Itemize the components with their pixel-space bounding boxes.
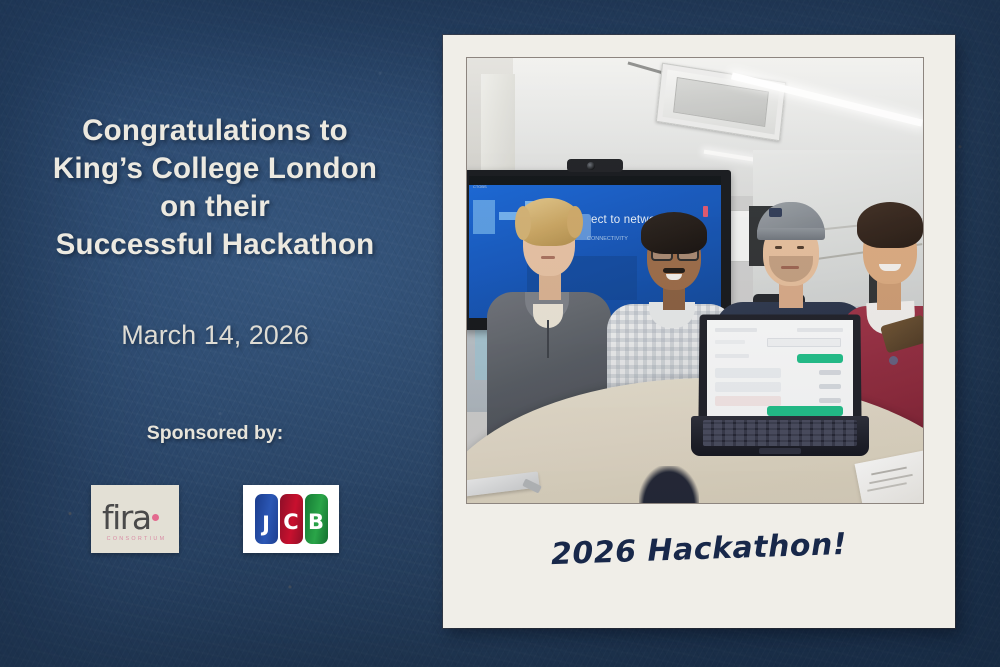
jcb-logo: J C B xyxy=(243,485,339,553)
student-2-moustache xyxy=(663,268,685,273)
student-1-hair-side-left xyxy=(515,206,531,240)
laptop-keyboard xyxy=(703,420,857,446)
wall-column xyxy=(481,74,515,178)
app-amount-1 xyxy=(819,370,841,375)
photo-caption: 2026 Hackathon! xyxy=(443,523,956,576)
jcb-blocks: J C B xyxy=(255,494,328,544)
jcb-letter-j: J xyxy=(262,514,270,535)
webcam-icon xyxy=(567,159,623,172)
jcb-block-c: C xyxy=(280,494,303,544)
headline-line-1: Congratulations to xyxy=(0,112,430,150)
app-list-item-1 xyxy=(715,368,781,378)
sponsored-by-label: Sponsored by: xyxy=(0,422,430,445)
jcb-letter-c: C xyxy=(283,512,298,533)
student-3-mouth xyxy=(781,266,799,269)
fira-wordmark-group: fira xyxy=(98,499,172,539)
student-4-mouth xyxy=(879,264,901,271)
polaroid-frame: ect to networ CONNECTIVITY CTOBS xyxy=(443,35,955,628)
app-field-4 xyxy=(715,354,749,358)
student-4-chest-logo-icon xyxy=(889,356,898,365)
fira-accent-dot-icon xyxy=(152,514,159,521)
app-amount-2 xyxy=(819,384,841,389)
student-1-mouth xyxy=(541,256,555,259)
laptop-trackpad xyxy=(759,448,801,454)
message-column: Congratulations to King’s College London… xyxy=(0,0,430,667)
webcam-lens-icon xyxy=(587,162,595,170)
jcb-letter-b: B xyxy=(308,512,324,533)
jcb-block-b: B xyxy=(305,494,328,544)
fira-wordmark: fira xyxy=(102,498,151,538)
headline: Congratulations to King’s College London… xyxy=(0,112,430,264)
student-3-eye-left xyxy=(775,246,782,249)
headline-line-2: King’s College London xyxy=(0,150,430,188)
app-field-2 xyxy=(797,328,843,332)
event-date: March 14, 2026 xyxy=(0,318,430,352)
app-list-item-2 xyxy=(715,382,781,392)
student-1-hair-side-right xyxy=(567,206,583,238)
fira-logo: fira CONSORTIUM xyxy=(91,485,179,553)
app-secondary-button xyxy=(767,406,843,416)
table-base-shadow xyxy=(639,466,699,503)
app-field-3 xyxy=(715,340,745,344)
student-2-hair xyxy=(641,212,707,254)
student-1-zipper xyxy=(547,320,549,358)
headline-line-4: Successful Hackathon xyxy=(0,226,430,264)
student-4-hair xyxy=(857,202,923,248)
app-primary-button xyxy=(797,354,843,363)
student-3-eye-right xyxy=(797,246,804,249)
jcb-block-j: J xyxy=(255,494,278,544)
app-list-item-3 xyxy=(715,396,781,406)
student-3-beanie-tag xyxy=(769,208,782,217)
app-amount-3 xyxy=(819,398,841,403)
headline-line-3: on their xyxy=(0,188,430,226)
student-3-beanie-band xyxy=(757,228,825,240)
sponsor-logo-row: fira CONSORTIUM J C B xyxy=(0,485,430,553)
event-photograph: ect to networ CONNECTIVITY CTOBS xyxy=(467,58,923,503)
app-input-box xyxy=(767,338,841,347)
app-field-1 xyxy=(715,328,757,332)
